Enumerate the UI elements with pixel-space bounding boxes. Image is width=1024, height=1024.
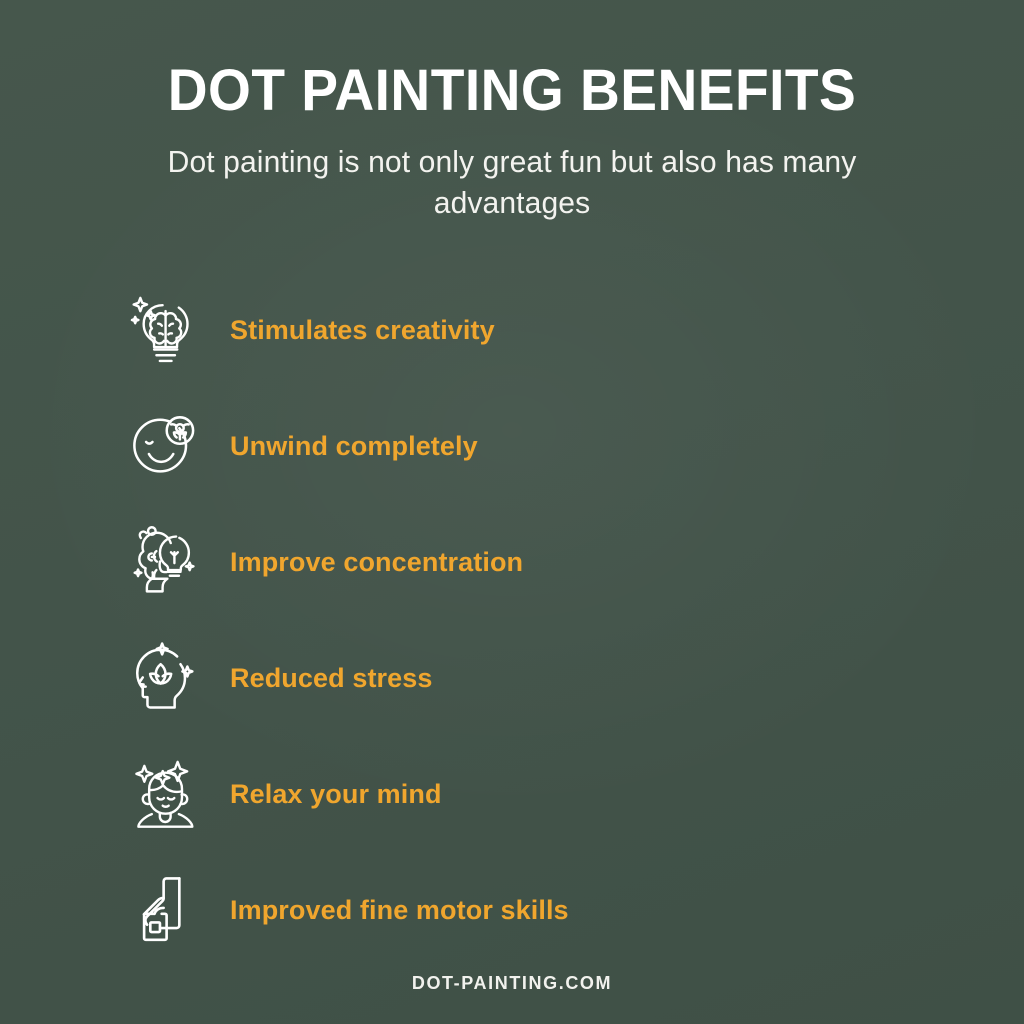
page-title: DOT PAINTING BENEFITS bbox=[26, 62, 999, 120]
list-item-label: Reduced stress bbox=[230, 663, 433, 694]
poster-footer: DOT-PAINTING.COM bbox=[0, 973, 1024, 994]
benefits-list: Stimulates creativity Unwind completely bbox=[0, 272, 1024, 968]
list-item-label: Unwind completely bbox=[230, 431, 478, 462]
list-item-label: Improved fine motor skills bbox=[230, 895, 569, 926]
hand-grip-icon bbox=[128, 871, 202, 949]
list-item: Improve concentration bbox=[0, 504, 1024, 620]
page-subtitle: Dot painting is not only great fun but a… bbox=[153, 142, 871, 224]
head-lotus-icon bbox=[128, 639, 202, 717]
website-label: DOT-PAINTING.COM bbox=[412, 973, 612, 993]
list-item: Relax your mind bbox=[0, 736, 1024, 852]
poster-header: DOT PAINTING BENEFITS Dot painting is no… bbox=[0, 0, 1024, 224]
head-profile-lightbulb-icon bbox=[128, 523, 202, 601]
list-item: Unwind completely bbox=[0, 388, 1024, 504]
list-item-label: Improve concentration bbox=[230, 547, 523, 578]
face-stars-icon bbox=[128, 755, 202, 833]
list-item: Reduced stress bbox=[0, 620, 1024, 736]
list-item: Stimulates creativity bbox=[0, 272, 1024, 388]
list-item-label: Stimulates creativity bbox=[230, 315, 495, 346]
list-item: Improved fine motor skills bbox=[0, 852, 1024, 968]
infographic-poster: DOT PAINTING BENEFITS Dot painting is no… bbox=[0, 0, 1024, 1024]
smiling-face-flower-icon bbox=[128, 407, 202, 485]
list-item-label: Relax your mind bbox=[230, 779, 442, 810]
brain-lightbulb-icon bbox=[128, 291, 202, 369]
